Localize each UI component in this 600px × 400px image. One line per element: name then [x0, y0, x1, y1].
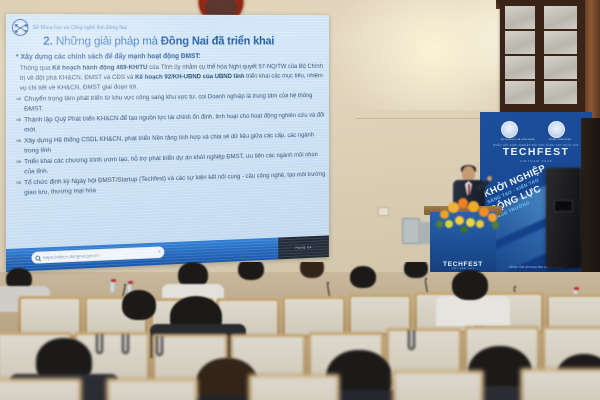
presenter-hand	[487, 176, 492, 181]
conference-hall-photo: BỘ KHOA HỌC VÀ CÔNG NGHỆ TRUNG ƯƠNG ĐOÀN…	[0, 0, 600, 400]
wall-dark-column	[581, 118, 600, 278]
dost-dong-nai-logo-icon	[12, 19, 29, 36]
water-bottle	[110, 278, 115, 293]
audience-chair	[106, 378, 198, 400]
slide-title-plain: Những giải pháp mà	[53, 34, 161, 48]
arrow-glyph-icon: ⇒	[16, 137, 21, 156]
slide-title: 2. Những giải pháp mà Đồng Nai đã triển …	[43, 34, 329, 48]
slide-title-number: 2.	[43, 34, 53, 48]
audience-shoulders	[436, 296, 510, 326]
flower-arrangement	[436, 196, 502, 232]
para-part-4-bold: Kế hoạch 92/KH-UBND của UBND tỉnh	[135, 73, 244, 81]
slide-org-name: Sở Khoa học và Công nghệ tỉnh Đồng Nai	[32, 25, 126, 31]
arrow-glyph-icon: ⇒	[16, 95, 21, 114]
slide-page-tag: PAGE 04	[278, 235, 329, 259]
para-part-1: Thông qua	[20, 65, 52, 72]
audience-area	[0, 262, 600, 400]
audience-head	[404, 262, 428, 278]
audience-head	[238, 262, 264, 280]
wall-outlet	[378, 207, 389, 216]
arrow-glyph-icon: ⇒	[16, 116, 21, 135]
page-label: PAGE 04	[295, 245, 312, 249]
url-text[interactable]: https://skhcn.dongnai.gov.vn	[43, 250, 155, 260]
audience-head	[350, 266, 376, 288]
slide-bullet-star: * Xây dựng các chính sách để đẩy mạnh ho…	[16, 51, 326, 62]
audience-head	[122, 290, 156, 320]
window-frame	[500, 0, 585, 112]
wall-wood-trim	[585, 0, 600, 120]
chair-strap	[408, 330, 415, 350]
chair-strap	[156, 336, 163, 356]
audience-head	[300, 262, 324, 278]
close-icon[interactable]: ×	[158, 249, 161, 255]
youth-union-logo-icon	[548, 121, 565, 138]
audience-chair	[248, 374, 340, 400]
loudspeaker-port	[554, 200, 573, 212]
audience-chair	[0, 378, 82, 400]
arrow-glyph-icon: ⇒	[16, 158, 21, 177]
projection-screen-slide: Sở Khoa học và Công nghệ tỉnh Đồng Nai 2…	[6, 14, 329, 272]
banner-logo-right-caption: TRUNG ƯƠNG ĐOÀN	[548, 139, 571, 141]
para-part-2-bold: Kế hoạch hành động 469-KH/TU	[52, 65, 147, 73]
slide-title-highlight: Đồng Nai đã triển khai	[161, 34, 274, 48]
slide-paragraph: Thông qua Kế hoạch hành động 469-KH/TU c…	[20, 63, 326, 94]
banner-logo-row: BỘ KHOA HỌC VÀ CÔNG NGHỆ TRUNG ƯƠNG ĐOÀN	[494, 121, 578, 141]
presenter-tie	[468, 184, 471, 195]
slide-body: * Xây dựng các chính sách để đẩy mạnh ho…	[16, 51, 326, 200]
magnifier-icon	[35, 255, 40, 260]
banner-logo-left-caption: BỘ KHOA HỌC VÀ CÔNG NGHỆ	[501, 139, 535, 141]
pa-loudspeaker	[546, 168, 581, 268]
ministry-science-logo-icon	[501, 121, 518, 138]
audience-chair	[392, 370, 484, 400]
chair-strap	[96, 334, 103, 354]
chair-strap	[122, 334, 129, 354]
arrow-glyph-icon: ⇒	[16, 179, 21, 198]
audience-head	[452, 270, 488, 300]
audience-chair	[520, 368, 600, 400]
